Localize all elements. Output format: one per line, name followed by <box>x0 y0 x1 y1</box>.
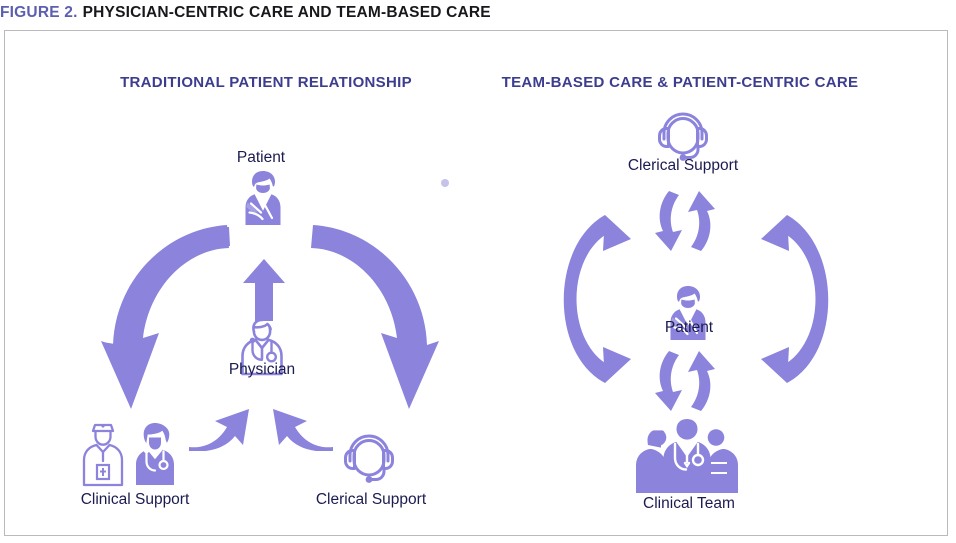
arrow-hook-left-icon <box>271 407 333 451</box>
figure-title: PHYSICIAN-CENTRIC CARE AND TEAM-BASED CA… <box>83 4 491 22</box>
arrow-curve-right-icon <box>309 219 439 429</box>
right-clerical-support-label: Clerical Support <box>609 157 757 175</box>
arrow-pair-vertical-icon <box>649 349 721 413</box>
arrow-pair-vertical-icon <box>649 189 721 253</box>
artifact-dot <box>441 179 449 187</box>
right-clinical-team-label: Clinical Team <box>615 495 763 513</box>
arrow-up-icon <box>243 259 285 321</box>
figure-caption: FIGURE 2. PHYSICIAN-CENTRIC CARE AND TEA… <box>0 0 956 26</box>
left-patient-label: Patient <box>201 149 321 167</box>
right-patient-label: Patient <box>629 319 749 337</box>
figure-panel: TRADITIONAL PATIENT RELATIONSHIP Patient <box>4 30 948 536</box>
arrow-double-curve-left-icon <box>545 213 637 385</box>
left-clerical-support-label: Clerical Support <box>297 491 445 509</box>
clerical-headset-icon <box>339 431 399 487</box>
right-panel-heading: TEAM-BASED CARE & PATIENT-CENTRIC CARE <box>460 74 900 91</box>
clinical-support-pair-icon <box>77 419 195 487</box>
arrow-curve-left-icon <box>101 219 231 429</box>
arrow-double-curve-right-icon <box>755 213 847 385</box>
arrow-hook-right-icon <box>189 407 251 451</box>
figure-number: FIGURE 2. <box>0 4 78 22</box>
left-clinical-support-label: Clinical Support <box>61 491 209 509</box>
clinical-team-trio-icon <box>631 417 743 495</box>
patient-sling-icon <box>239 169 287 227</box>
left-panel-heading: TRADITIONAL PATIENT RELATIONSHIP <box>41 74 491 91</box>
